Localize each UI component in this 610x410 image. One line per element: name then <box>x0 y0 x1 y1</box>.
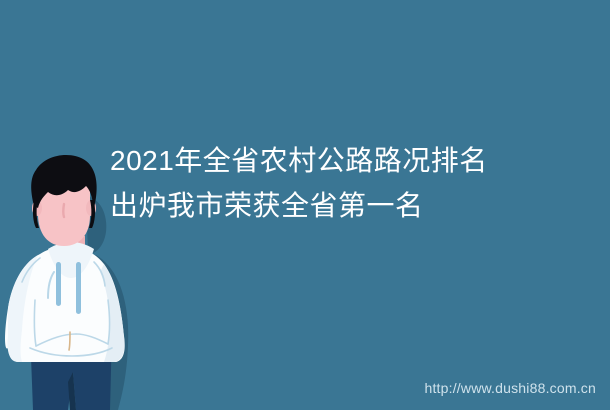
headline-line-2: 出炉我市荣获全省第一名 <box>110 183 590 228</box>
headline: 2021年全省农村公路路况排名 出炉我市荣获全省第一名 <box>110 138 590 228</box>
banner-root: 2021年全省农村公路路况排名 出炉我市荣获全省第一名 http://www.d… <box>0 0 610 410</box>
headline-line-1: 2021年全省农村公路路况排名 <box>110 138 590 183</box>
source-watermark: http://www.dushi88.com.cn <box>424 380 596 396</box>
